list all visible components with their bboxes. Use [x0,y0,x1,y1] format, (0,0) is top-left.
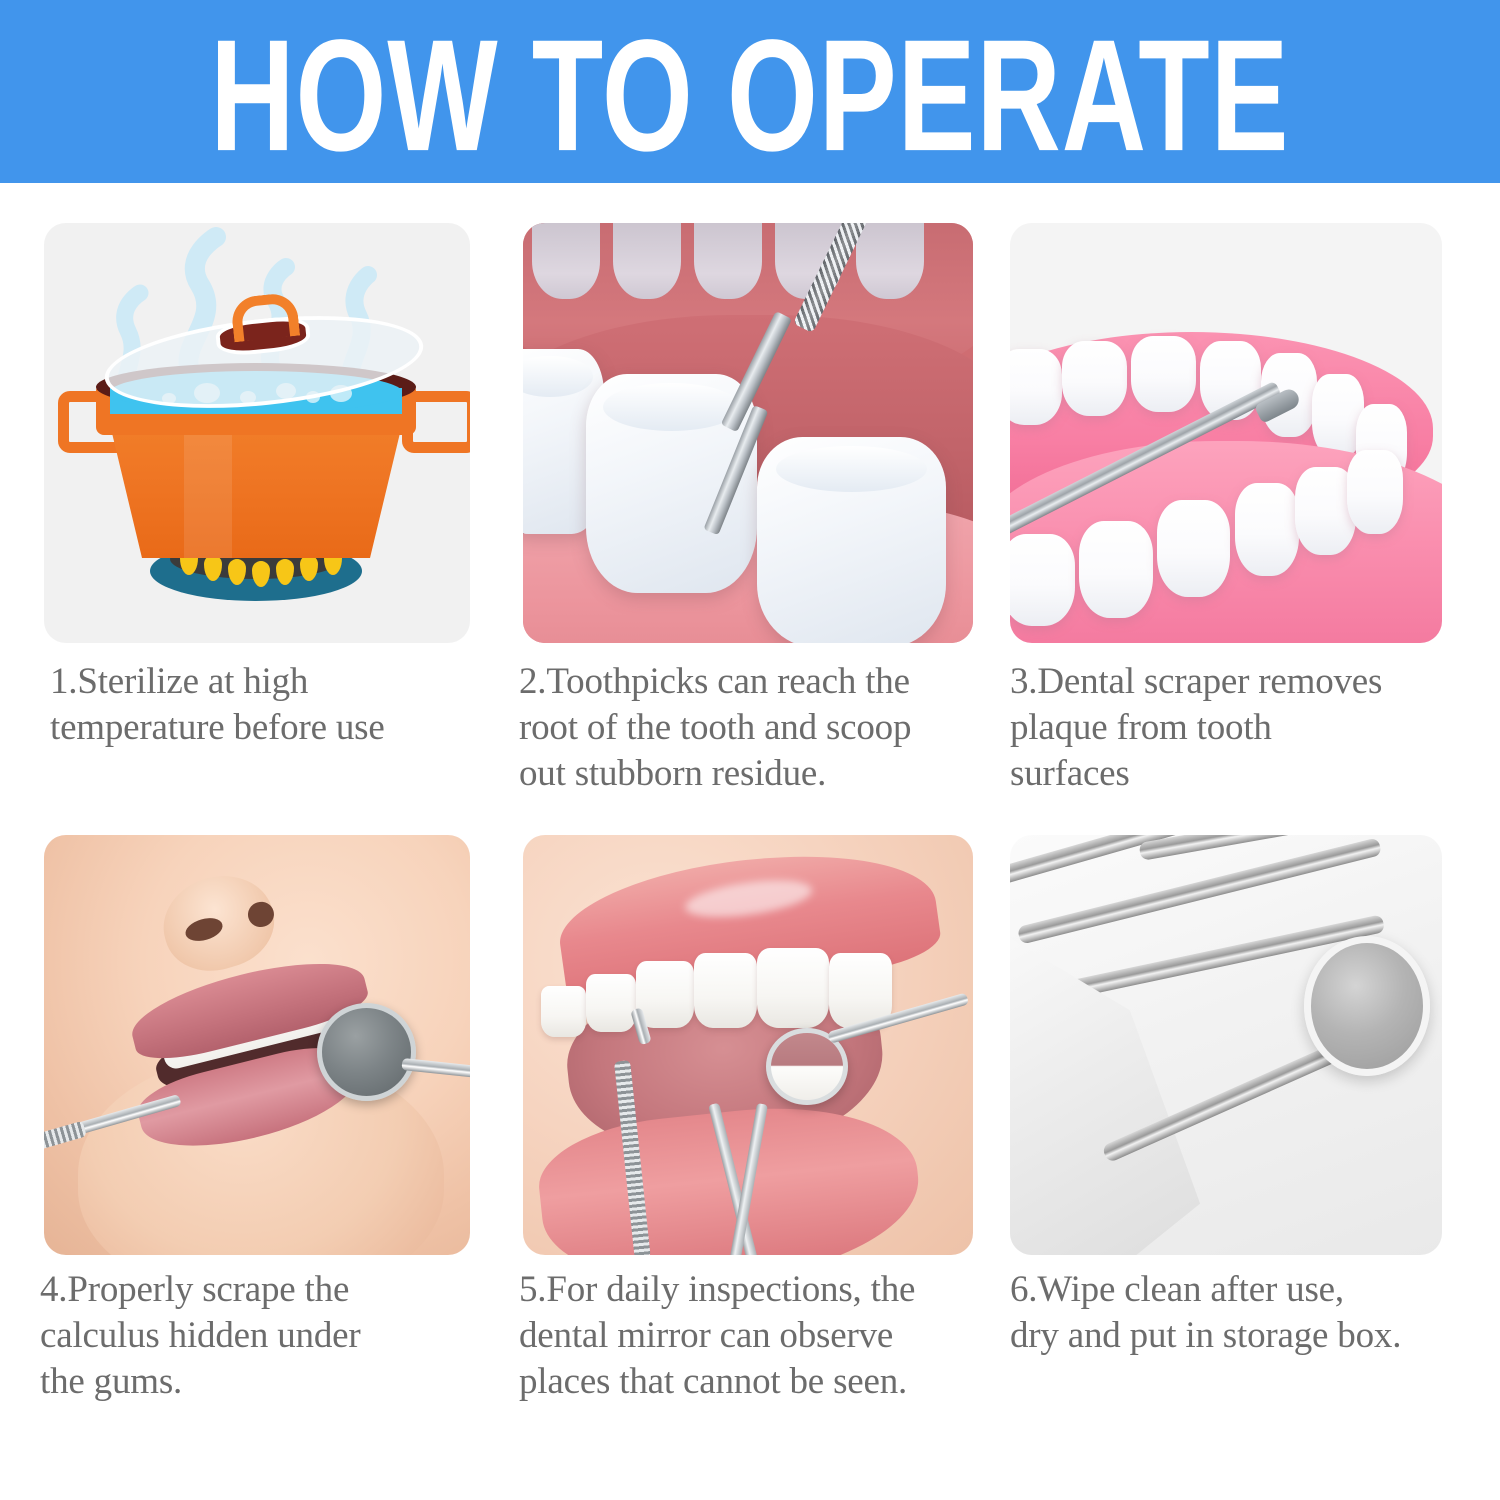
dental-probe-grip [44,1121,86,1153]
step-image-4 [44,835,470,1255]
upper-tooth [757,948,829,1028]
arch-tooth [1062,341,1127,417]
step-card-2: 2.Toothpicks can reach the root of the t… [505,223,975,797]
step-card-5: 5.For daily inspections, the dental mirr… [505,835,975,1405]
step-card-4: 4.Properly scrape the calculus hidden un… [22,835,492,1405]
step-caption-3: 3.Dental scraper removes plaque from too… [1010,659,1500,797]
arch-tooth [1131,336,1196,412]
step-card-6: 6.Wipe clean after use, dry and put in s… [1000,835,1470,1359]
dental-mirror-handle [401,1058,470,1081]
upper-tooth [694,223,762,299]
step-caption-2: 2.Toothpicks can reach the root of the t… [519,659,1011,797]
steps-grid: 1.Sterilize at high temperature before u… [0,183,1500,1500]
arch-tooth [1079,521,1152,618]
dental-mirror-head [1304,936,1430,1076]
step-caption-4: 4.Properly scrape the calculus hidden un… [40,1267,480,1405]
upper-tooth [613,223,681,299]
step-image-5 [523,835,973,1255]
upper-tooth [856,223,924,299]
arch-tooth [1235,483,1300,575]
step-image-2 [523,223,973,643]
step-image-1 [44,223,470,643]
step-image-3 [1010,223,1442,643]
instrument-rod [1138,835,1442,861]
dental-mirror-head [317,1003,416,1101]
molar-tooth [757,437,946,643]
step-caption-5: 5.For daily inspections, the dental mirr… [519,1267,1011,1405]
arch-tooth [1157,500,1230,597]
arch-tooth [1347,450,1403,534]
arch-tooth [1010,534,1075,626]
upper-tooth [586,974,636,1033]
arch-tooth [1010,349,1062,425]
step-image-6 [1010,835,1442,1255]
upper-tooth [694,953,757,1029]
upper-tooth [532,223,600,299]
page-title: HOW TO OPERATE [210,15,1289,174]
cleaning-cloth [1010,902,1200,1255]
step-caption-6: 6.Wipe clean after use, dry and put in s… [1010,1267,1500,1359]
step-card-3: 3.Dental scraper removes plaque from too… [1000,223,1470,797]
infographic-page: HOW TO OPERATE [0,0,1500,1500]
header-banner: HOW TO OPERATE [0,0,1500,183]
step-card-1: 1.Sterilize at high temperature before u… [22,223,492,751]
upper-tooth [541,986,586,1036]
step-caption-1: 1.Sterilize at high temperature before u… [50,659,490,751]
